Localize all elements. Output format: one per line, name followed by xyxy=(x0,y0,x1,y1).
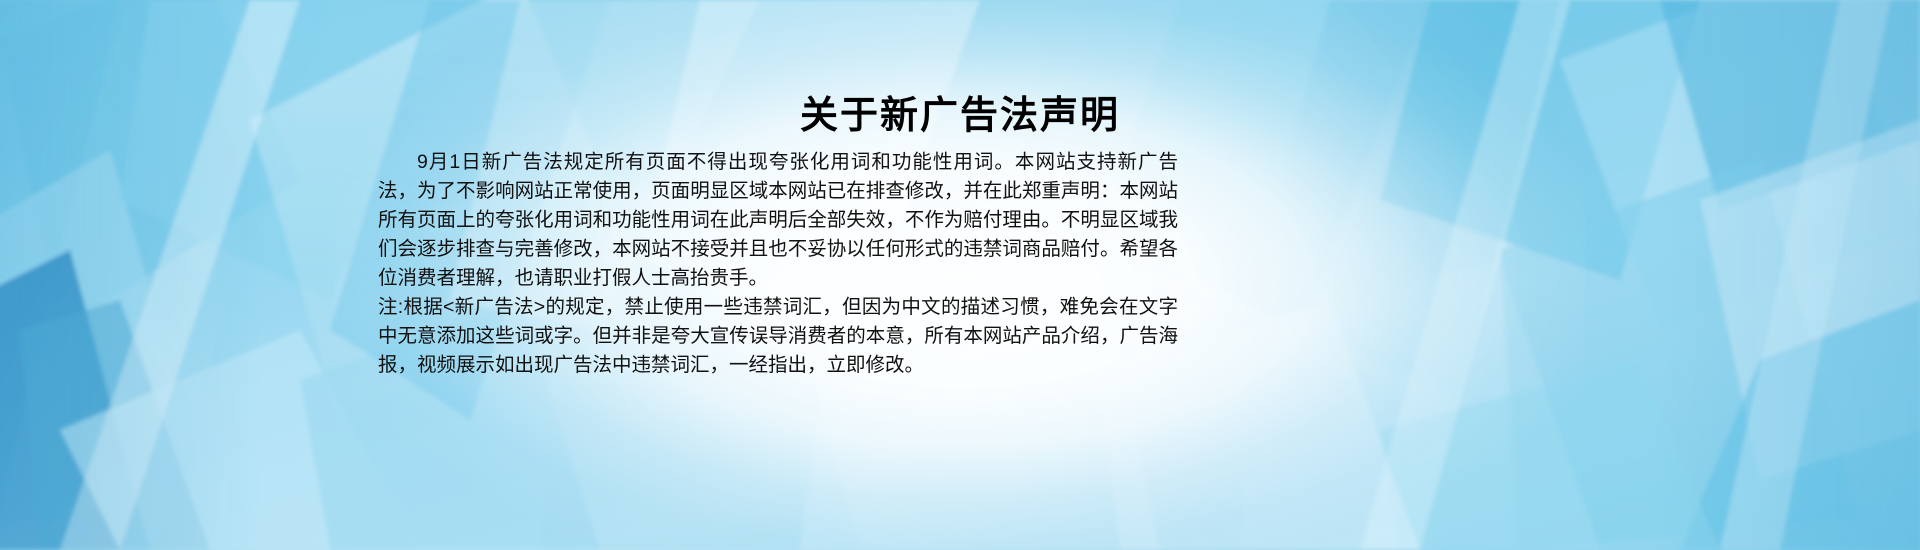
statement-paragraph-main: 9月1日新广告法规定所有页面不得出现夸张化用词和功能性用词。本网站支持新广告法，… xyxy=(378,148,1178,293)
statement-paragraph-note: 注:根据<新广告法>的规定，禁止使用一些违禁词汇，但因为中文的描述习惯，难免会在… xyxy=(378,293,1178,380)
statement-content: 关于新广告法声明 9月1日新广告法规定所有页面不得出现夸张化用词和功能性用词。本… xyxy=(0,0,1920,550)
page-title: 关于新广告法声明 xyxy=(0,84,1920,139)
advertising-law-statement-banner: 关于新广告法声明 9月1日新广告法规定所有页面不得出现夸张化用词和功能性用词。本… xyxy=(0,0,1920,550)
statement-body: 9月1日新广告法规定所有页面不得出现夸张化用词和功能性用词。本网站支持新广告法，… xyxy=(378,148,1178,380)
